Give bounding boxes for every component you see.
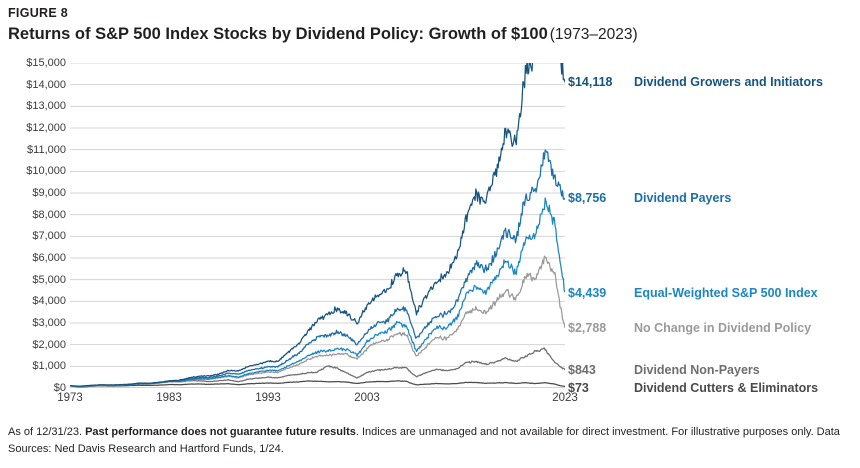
series-label: Dividend Growers and Initiators [634,74,823,90]
y-axis-tick-label: $3,000 [2,317,66,329]
x-axis-tick-label: 2003 [354,392,380,404]
series-line [70,150,565,386]
chart-title-main: Returns of S&P 500 Index Stocks by Divid… [8,25,548,43]
chart-svg [70,63,565,388]
plot-area [70,63,565,388]
series-line [70,63,565,386]
y-axis-tick-label: $5,000 [2,274,66,286]
series-lines [70,63,565,387]
series-final-value: $2,788 [568,320,606,336]
y-axis-tick-label: $15,000 [2,57,66,69]
series-final-value: $8,756 [568,190,606,206]
page-title: Returns of S&P 500 Index Stocks by Divid… [8,24,852,45]
series-final-value: $14,118 [568,74,613,90]
figure-header: FIGURE 8 Returns of S&P 500 Index Stocks… [8,6,852,45]
footnote-lead: As of 12/31/23. [8,426,85,438]
y-axis: $15,000$14,000$13,000$12,000$11,000$10,0… [0,52,66,414]
y-axis-tick-label: $12,000 [2,122,66,134]
y-axis-tick-label: $6,000 [2,252,66,264]
series-line [70,198,565,386]
y-axis-tick-label: $10,000 [2,165,66,177]
series-label: Dividend Cutters & Eliminators [634,380,818,396]
x-axis-tick-label: 1983 [156,392,182,404]
series-legend: $14,118Dividend Growers and Initiators$8… [568,52,860,414]
footnote-bold: Past performance does not guarantee futu… [85,426,356,438]
series-label: Dividend Non-Payers [634,362,760,378]
chart-title-years: (1973–2023) [550,26,638,43]
footnote: As of 12/31/23. Past performance does no… [8,424,852,458]
gridlines [70,63,565,388]
series-label: No Change in Dividend Policy [634,320,811,336]
y-axis-tick-label: $11,000 [2,144,66,156]
series-final-value: $73 [568,380,589,396]
y-axis-tick-label: $2,000 [2,339,66,351]
x-axis-tick-label: 1973 [57,392,83,404]
figure-number: FIGURE 8 [8,6,852,21]
y-axis-tick-label: $14,000 [2,79,66,91]
y-axis-tick-label: $7,000 [2,230,66,242]
series-final-value: $4,439 [568,285,606,301]
y-axis-tick-label: $1,000 [2,360,66,372]
y-axis-tick-label: $13,000 [2,100,66,112]
series-label: Dividend Payers [634,190,731,206]
y-axis-tick-label: $4,000 [2,295,66,307]
x-axis-tick-label: 1993 [255,392,281,404]
series-final-value: $843 [568,362,596,378]
y-axis-tick-label: $8,000 [2,209,66,221]
series-label: Equal-Weighted S&P 500 Index [634,285,818,301]
y-axis-tick-label: $9,000 [2,187,66,199]
